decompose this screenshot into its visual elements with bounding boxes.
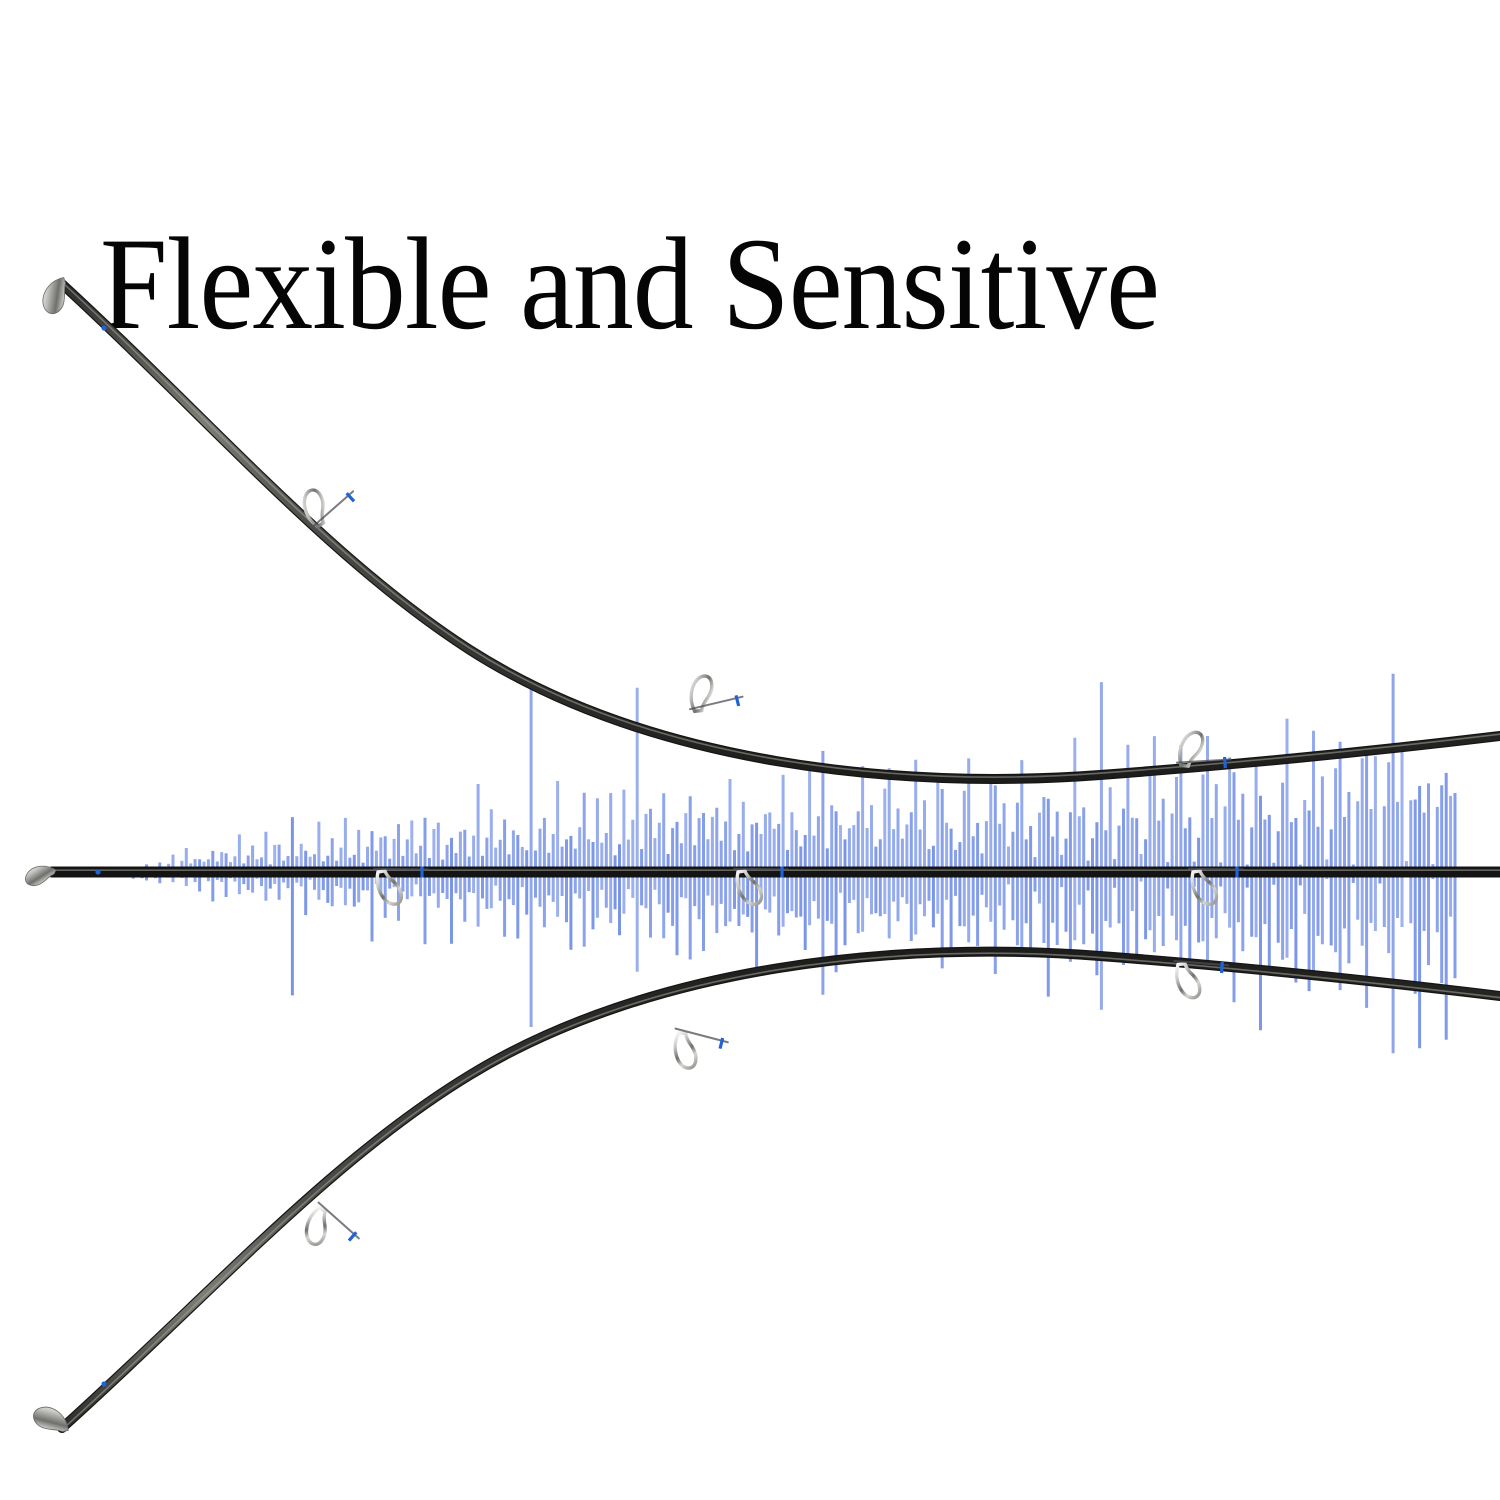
guide-wrap-highlight — [1189, 869, 1243, 870]
tip-top-ring — [30, 1400, 72, 1443]
fishing-rods-group — [25, 274, 1500, 1443]
guide-thread-wrap — [313, 1202, 361, 1244]
line-guide — [1171, 730, 1237, 772]
product-banner: Flexible and Sensitive — [0, 0, 1500, 1500]
audio-waveform — [120, 674, 1455, 1053]
rod-blank — [62, 952, 1500, 1428]
tip-blue-accent — [95, 869, 100, 874]
line-guide — [679, 667, 750, 719]
tip-top-guide — [30, 1400, 72, 1443]
rod-blank-highlight — [62, 282, 1500, 777]
rod-waveform-illustration — [0, 0, 1500, 1500]
line-guide — [370, 867, 434, 905]
middle-rod — [25, 866, 1500, 904]
guide-blue-accent — [1222, 962, 1223, 973]
guide-wrap-highlight — [313, 491, 354, 528]
guide-blue-accent — [1225, 757, 1226, 768]
line-guide — [1168, 958, 1234, 1000]
guide-wrap-highlight — [374, 869, 428, 870]
tip-top-ring — [25, 866, 56, 885]
rod-blank — [62, 284, 1500, 779]
line-guide — [1185, 867, 1249, 905]
line-guide — [290, 465, 363, 536]
rod-blank-highlight — [62, 953, 1500, 1429]
top-rod — [35, 274, 1500, 779]
tip-blue-accent — [101, 1381, 106, 1386]
line-guide — [663, 1025, 734, 1077]
guide-wrap-highlight — [734, 869, 788, 870]
tip-blue-accent — [101, 325, 106, 330]
rod-blank-outline — [62, 284, 1500, 779]
line-guide — [730, 867, 794, 905]
tip-top-guide — [25, 866, 56, 885]
bottom-rod — [30, 952, 1500, 1444]
rod-blank-outline — [62, 952, 1500, 1428]
